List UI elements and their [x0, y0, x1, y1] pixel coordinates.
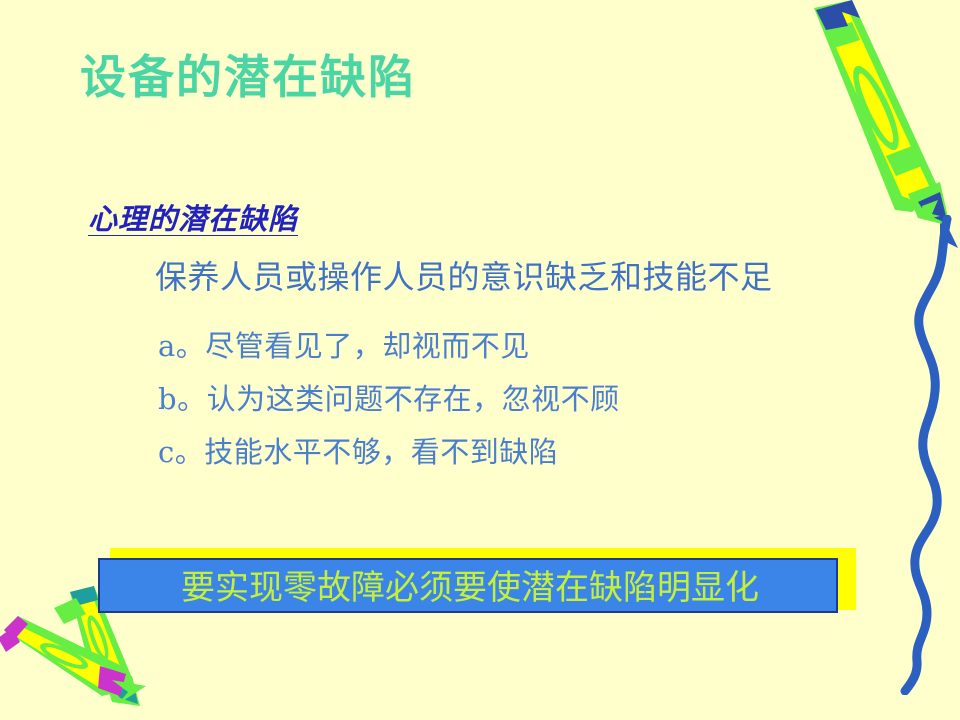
conclusion-callout: 要实现零故障必须要使潜在缺陷明显化 — [98, 548, 856, 620]
lead-sentence: 保养人员或操作人员的意识缺乏和技能不足 — [155, 252, 773, 298]
conclusion-text: 要实现零故障必须要使潜在缺陷明显化 — [100, 569, 840, 607]
slide-canvas: 设备的潜在缺陷 心理的潜在缺陷 保养人员或操作人员的意识缺乏和技能不足 a。尽管… — [0, 0, 960, 720]
list-item: b。认为这类问题不存在，忽视不顾 — [158, 379, 798, 432]
page-title: 设备的潜在缺陷 — [80, 52, 416, 103]
crayon-top-right-icon — [790, 0, 960, 251]
list-item: c。技能水平不够，看不到缺陷 — [158, 432, 798, 485]
bullet-list: a。尽管看见了，却视而不见 b。认为这类问题不存在，忽视不顾 c。技能水平不够，… — [158, 326, 798, 485]
squiggle-right-icon — [875, 215, 960, 695]
list-item: a。尽管看见了，却视而不见 — [158, 326, 798, 379]
conclusion-box: 要实现零故障必须要使潜在缺陷明显化 — [98, 558, 838, 613]
section-subheading: 心理的潜在缺陷 — [88, 196, 298, 238]
